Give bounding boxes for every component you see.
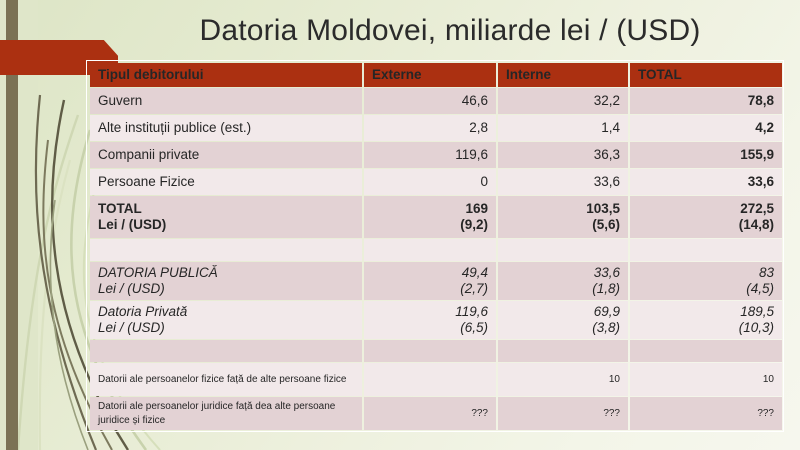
debt-table: Tipul debitorului Externe Interne TOTAL …: [88, 62, 784, 431]
debt-table-container: Tipul debitorului Externe Interne TOTAL …: [88, 62, 780, 431]
row-label-line1: Datoria Privată: [98, 304, 354, 320]
row-total-line2: (10,3): [638, 320, 774, 336]
row-externe-line2: (6,5): [372, 320, 488, 336]
row-interne-total: 103,5 (5,6): [498, 196, 628, 238]
table-row-spacer: [90, 239, 782, 261]
row-total-line1: 189,5: [638, 304, 774, 320]
row-total-note: 10: [630, 363, 782, 396]
table-row: Alte instituții publice (est.) 2,8 1,4 4…: [90, 115, 782, 141]
spacer-cell-label: [90, 239, 362, 261]
row-label-line1: DATORIA PUBLICĂ: [98, 265, 354, 281]
row-externe-line2: (9,2): [372, 217, 488, 233]
row-interne: 33,6: [498, 169, 628, 195]
table-row-note-juridice: Datorii ale persoanelor juridice față de…: [90, 397, 782, 430]
row-total: 155,9: [630, 142, 782, 168]
spacer-cell-interne: [498, 340, 628, 362]
row-interne-line2: (1,8): [506, 281, 620, 297]
row-label-public: DATORIA PUBLICĂ Lei / (USD): [90, 262, 362, 300]
row-interne: 36,3: [498, 142, 628, 168]
table-row-private-debt: Datoria Privată Lei / (USD) 119,6 (6,5) …: [90, 301, 782, 339]
header-cell-interne: Interne: [498, 63, 628, 87]
row-interne: 1,4: [498, 115, 628, 141]
row-total-private: 189,5 (10,3): [630, 301, 782, 339]
row-externe-total: 169 (9,2): [364, 196, 496, 238]
row-interne-line1: 103,5: [506, 201, 620, 217]
row-label: Companii private: [90, 142, 362, 168]
row-label-private: Datoria Privată Lei / (USD): [90, 301, 362, 339]
spacer-cell-label: [90, 340, 362, 362]
table-row: Guvern 46,6 32,2 78,8: [90, 88, 782, 114]
table-row: Companii private 119,6 36,3 155,9: [90, 142, 782, 168]
row-interne-line1: 33,6: [506, 265, 620, 281]
page-title: Datoria Moldovei, miliarde lei / (USD): [120, 14, 780, 48]
row-label: Persoane Fizice: [90, 169, 362, 195]
table-row-spacer: [90, 340, 782, 362]
row-externe-line2: (2,7): [372, 281, 488, 297]
row-externe-public: 49,4 (2,7): [364, 262, 496, 300]
table-row: Persoane Fizice 0 33,6 33,6: [90, 169, 782, 195]
row-externe: 46,6: [364, 88, 496, 114]
slide-canvas: Datoria Moldovei, miliarde lei / (USD) T…: [0, 0, 800, 450]
row-total-total: 272,5 (14,8): [630, 196, 782, 238]
row-label-line2: Lei / (USD): [98, 217, 354, 233]
spacer-cell-externe: [364, 340, 496, 362]
header-cell-externe: Externe: [364, 63, 496, 87]
header-cell-label: Tipul debitorului: [90, 63, 362, 87]
row-externe: 0: [364, 169, 496, 195]
row-externe: 119,6: [364, 142, 496, 168]
row-interne-public: 33,6 (1,8): [498, 262, 628, 300]
row-total-line2: (14,8): [638, 217, 774, 233]
table-row-public-debt: DATORIA PUBLICĂ Lei / (USD) 49,4 (2,7) 3…: [90, 262, 782, 300]
row-externe-line1: 119,6: [372, 304, 488, 320]
spacer-cell-interne: [498, 239, 628, 261]
header-cell-total: TOTAL: [630, 63, 782, 87]
table-header-row: Tipul debitorului Externe Interne TOTAL: [90, 63, 782, 87]
spacer-cell-externe: [364, 239, 496, 261]
row-total-note: ???: [630, 397, 782, 430]
row-externe: 2,8: [364, 115, 496, 141]
row-total: 33,6: [630, 169, 782, 195]
table-row-note-fizice: Datorii ale persoanelor fizice față de a…: [90, 363, 782, 396]
row-total-public: 83 (4,5): [630, 262, 782, 300]
row-label-line2: Lei / (USD): [98, 320, 354, 336]
row-total: 4,2: [630, 115, 782, 141]
table-row-total: TOTAL Lei / (USD) 169 (9,2) 103,5 (5,6) …: [90, 196, 782, 238]
row-interne-note: 10: [498, 363, 628, 396]
row-interne: 32,2: [498, 88, 628, 114]
row-externe-note: [364, 363, 496, 396]
row-interne-note: ???: [498, 397, 628, 430]
row-total-line1: 83: [638, 265, 774, 281]
row-externe-line1: 49,4: [372, 265, 488, 281]
spacer-cell-total: [630, 239, 782, 261]
row-label-note: Datorii ale persoanelor juridice față de…: [90, 397, 362, 430]
row-externe-note: ???: [364, 397, 496, 430]
row-total-line1: 272,5: [638, 201, 774, 217]
row-externe-private: 119,6 (6,5): [364, 301, 496, 339]
row-interne-line1: 69,9: [506, 304, 620, 320]
table-header: Tipul debitorului Externe Interne TOTAL: [90, 63, 782, 87]
row-interne-line2: (5,6): [506, 217, 620, 233]
row-label-note: Datorii ale persoanelor fizice față de a…: [90, 363, 362, 396]
row-interne-private: 69,9 (3,8): [498, 301, 628, 339]
table-body: Guvern 46,6 32,2 78,8 Alte instituții pu…: [90, 88, 782, 430]
row-label: Alte instituții publice (est.): [90, 115, 362, 141]
row-label-line2: Lei / (USD): [98, 281, 354, 297]
row-total-line2: (4,5): [638, 281, 774, 297]
row-externe-line1: 169: [372, 201, 488, 217]
spacer-cell-total: [630, 340, 782, 362]
row-total: 78,8: [630, 88, 782, 114]
row-label: Guvern: [90, 88, 362, 114]
row-label-line1: TOTAL: [98, 201, 354, 217]
row-label-total: TOTAL Lei / (USD): [90, 196, 362, 238]
row-interne-line2: (3,8): [506, 320, 620, 336]
